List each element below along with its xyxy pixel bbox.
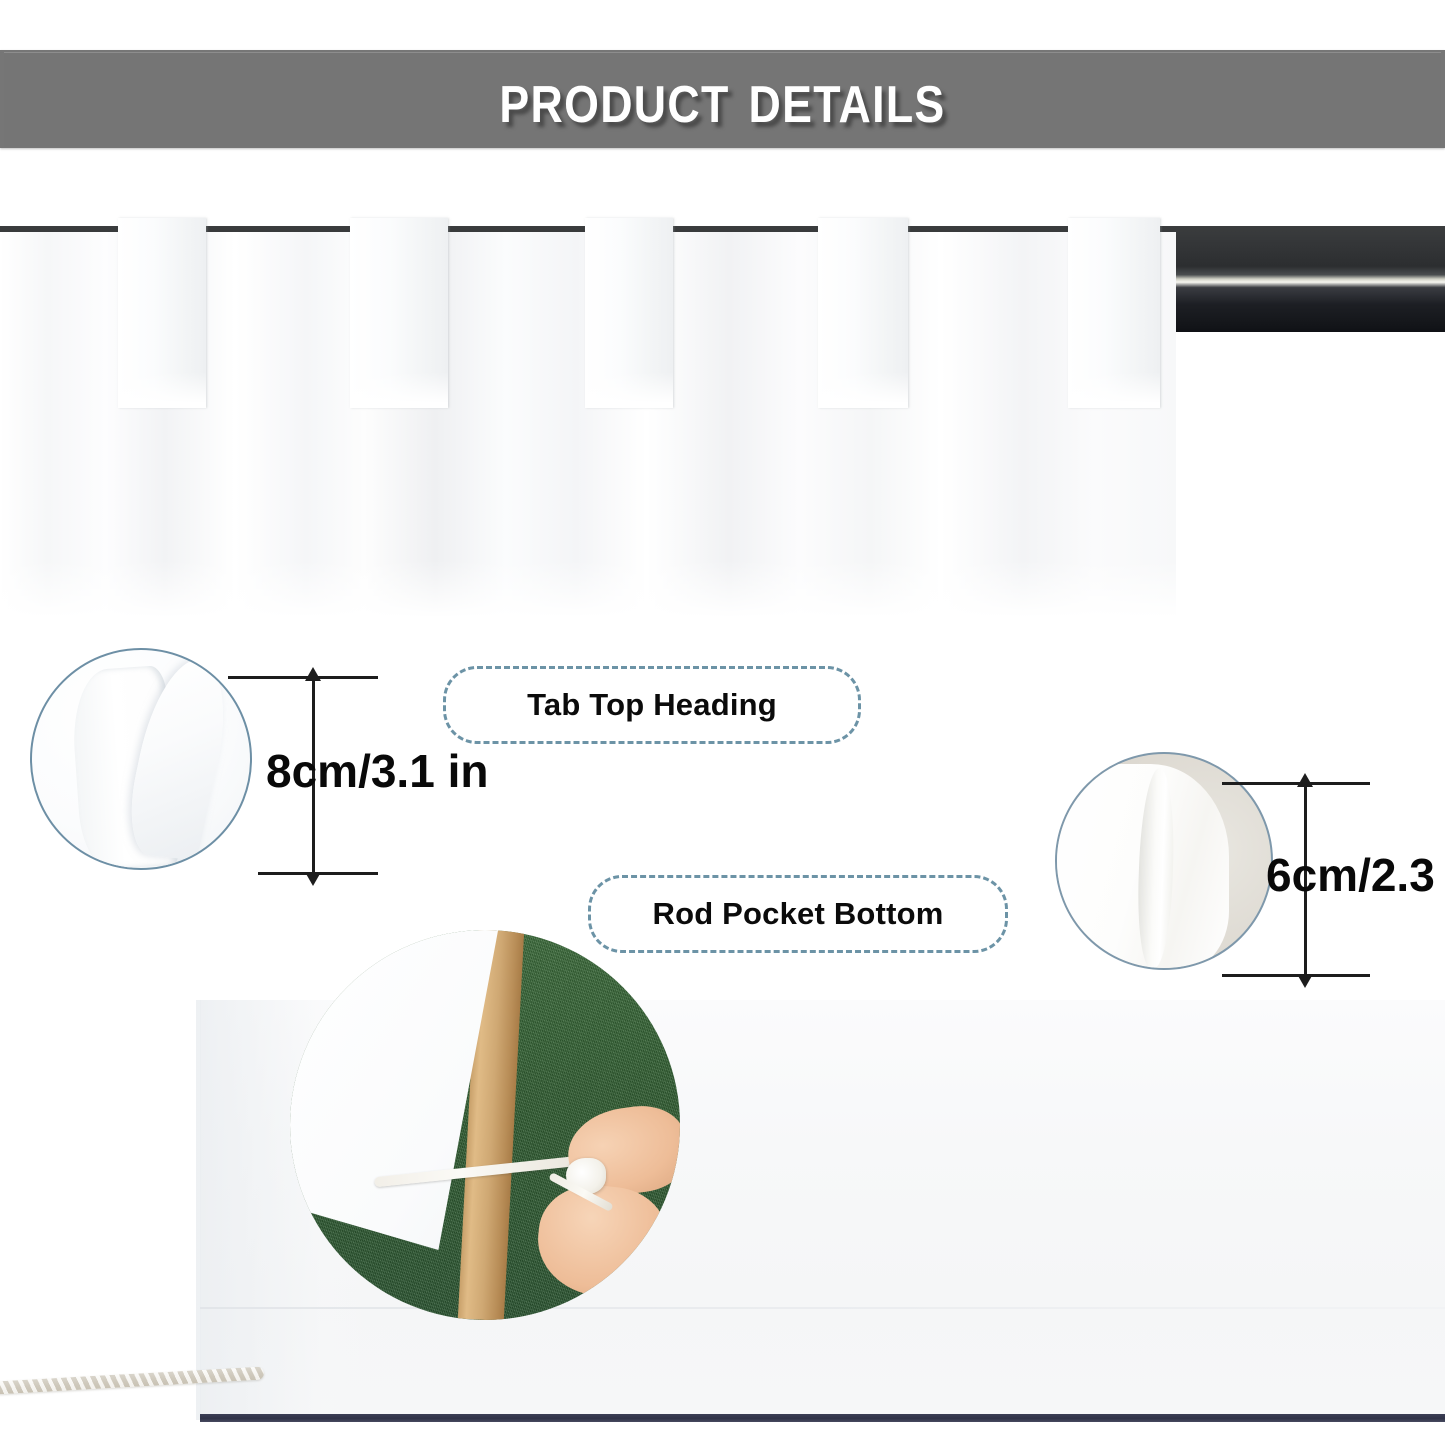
arrow-up-icon [1297, 773, 1313, 787]
dimension-guide-line-top [1222, 782, 1370, 785]
product-details-page: Product Details 8cm/3.1 in Tab Top Headi… [0, 0, 1445, 1445]
curtain-panel-bottom-fade [0, 560, 1176, 640]
rope-tie-photo-inset [290, 930, 680, 1320]
page-title: Product Details [101, 50, 1344, 148]
header-banner: Product Details [0, 50, 1445, 148]
arrow-up-icon [305, 667, 321, 681]
curtain-bottom-panel-hem [200, 1414, 1445, 1422]
dimension-guide-line-top [228, 676, 378, 679]
curtain-tab [350, 218, 448, 408]
dimension-label-pocket-height: 6cm/2.3 in [1266, 852, 1445, 898]
curtain-tab [1068, 218, 1160, 408]
curtain-tab [818, 218, 908, 408]
dimension-label-heading-height: 8cm/3.1 in [266, 748, 488, 794]
dimension-pocket-height: 6cm/2.3 in [1222, 782, 1445, 978]
dimension-guide-line-bottom [1222, 974, 1370, 977]
curtain-tab [118, 218, 206, 408]
arrow-down-icon [1297, 974, 1313, 988]
curtain-tab [585, 218, 673, 408]
arrow-down-icon [305, 872, 321, 886]
tab-top-closeup-inset [30, 648, 252, 870]
label-tab-top-heading: Tab Top Heading [443, 666, 861, 744]
